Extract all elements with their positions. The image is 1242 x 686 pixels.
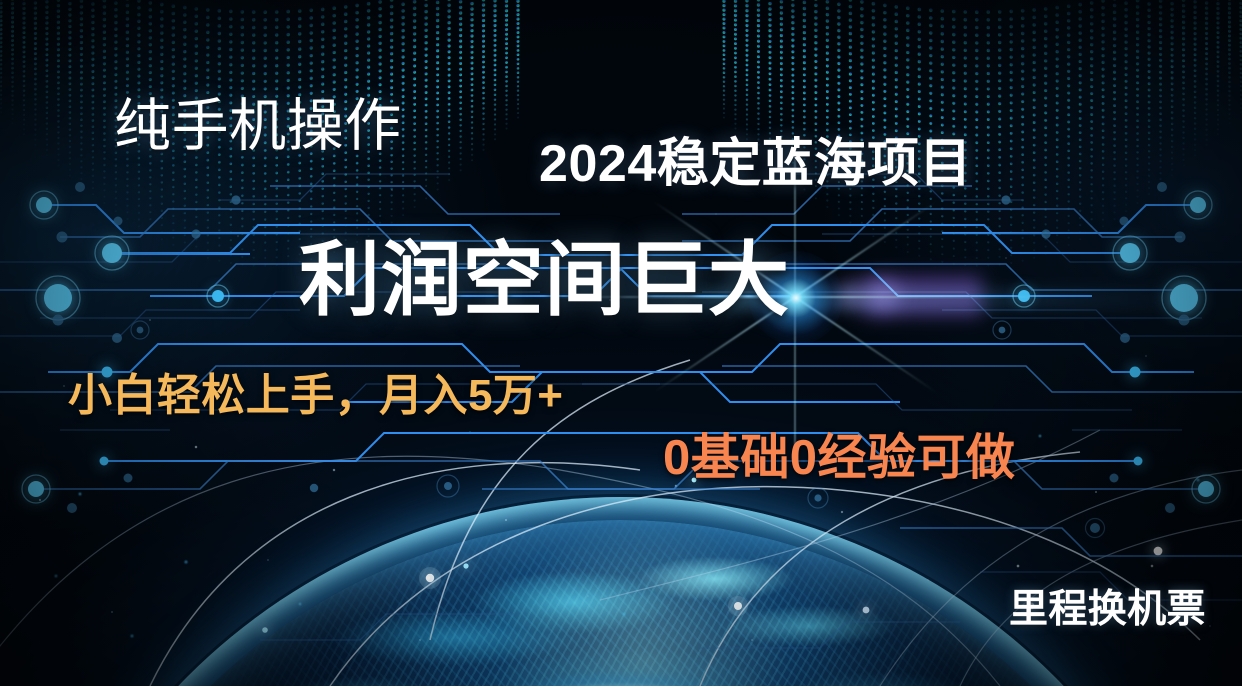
benefit-line-one: 小白轻松上手，月入5万+ — [68, 374, 563, 418]
lens-flare-ghost-two — [866, 278, 900, 312]
headline-top-left: 纯手机操作 — [114, 98, 402, 155]
benefit-line-two: 0基础0经验可做 — [663, 434, 1015, 483]
headline-top-right: 2024稳定蓝海项目 — [539, 138, 972, 190]
promo-poster: 纯手机操作 2024稳定蓝海项目 利润空间巨大 小白轻松上手，月入5万+ 0基础… — [0, 0, 1242, 686]
lens-flare-icon — [795, 297, 797, 299]
headline-main: 利润空间巨大 — [299, 241, 790, 322]
corner-tag: 里程换机票 — [1009, 590, 1206, 629]
